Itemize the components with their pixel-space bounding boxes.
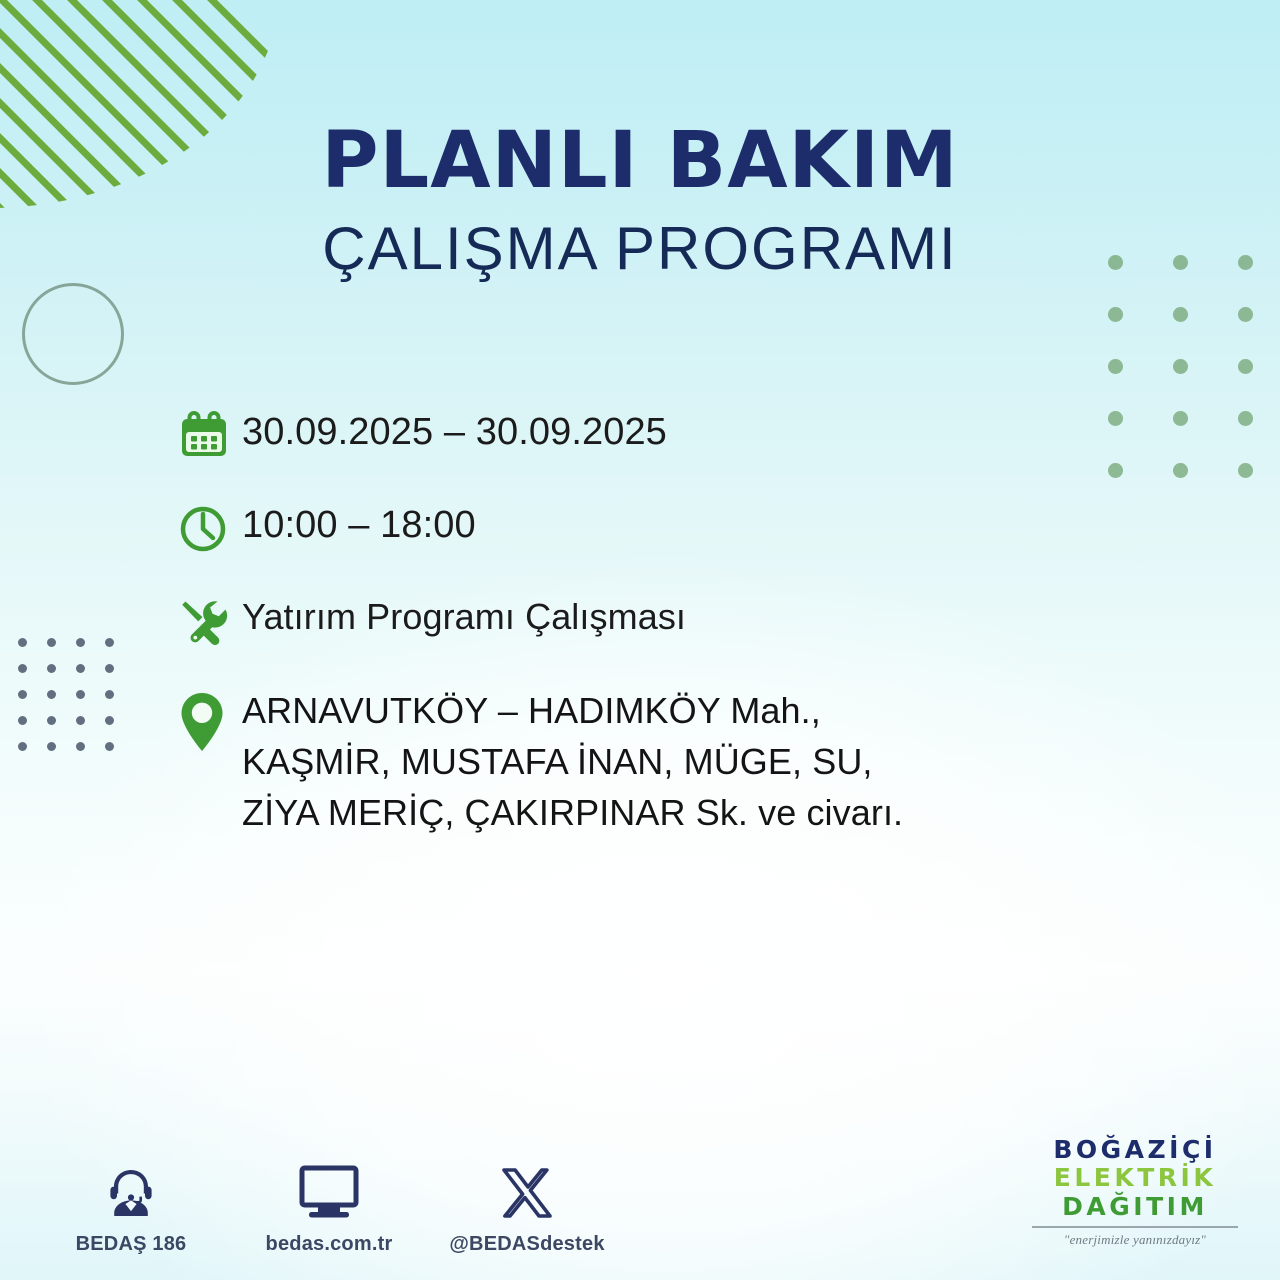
address-text: ARNAVUTKÖY – HADIMKÖY Mah., KAŞMİR, MUST…	[242, 685, 903, 838]
poster-header: PLANLI BAKIM ÇALIŞMA PROGRAMI	[0, 122, 1280, 282]
poster-canvas: PLANLI BAKIM ÇALIŞMA PROGRAMI	[0, 0, 1280, 1280]
page-title: PLANLI BAKIM	[0, 122, 1280, 202]
logo-divider	[1032, 1226, 1238, 1228]
headset-support-icon	[101, 1160, 161, 1222]
footer-contacts: BEDAŞ 186 bedas.com.tr @BEDASdestek	[58, 1160, 600, 1256]
contact-website[interactable]: bedas.com.tr	[256, 1160, 402, 1256]
address-line: ARNAVUTKÖY – HADIMKÖY Mah.,	[242, 685, 903, 736]
logo-tagline: "enerjimizle yanınızdayız"	[1026, 1232, 1244, 1248]
clock-icon	[176, 499, 242, 563]
circle-outline-decoration	[22, 283, 124, 385]
work-type-text: Yatırım Programı Çalışması	[242, 592, 686, 638]
info-row-time: 10:00 – 18:00	[176, 499, 1076, 563]
time-range-text: 10:00 – 18:00	[242, 499, 476, 548]
contact-label: bedas.com.tr	[266, 1233, 393, 1256]
date-range-text: 30.09.2025 – 30.09.2025	[242, 406, 667, 455]
logo-line-bogazici: BOĞAZİÇİ	[1026, 1136, 1244, 1165]
page-subtitle: ÇALIŞMA PROGRAMI	[0, 216, 1280, 282]
calendar-icon	[176, 406, 242, 470]
x-twitter-icon	[498, 1160, 556, 1222]
logo-line-dagitim: DAĞITIM	[1026, 1193, 1244, 1222]
dot-grid-right-decoration	[1108, 255, 1280, 515]
contact-call-center[interactable]: BEDAŞ 186	[58, 1160, 204, 1256]
monitor-website-icon	[297, 1160, 361, 1222]
contact-x-social[interactable]: @BEDASdestek	[454, 1160, 600, 1256]
info-row-address: ARNAVUTKÖY – HADIMKÖY Mah., KAŞMİR, MUST…	[176, 685, 1076, 838]
location-pin-icon	[176, 685, 242, 753]
bedas-logo: BOĞAZİÇİ ELEKTRİK DAĞITIM "enerjimizle y…	[1026, 1136, 1244, 1249]
outage-info-block: 30.09.2025 – 30.09.2025 10:00 – 18:00	[176, 406, 1076, 838]
info-row-date: 30.09.2025 – 30.09.2025	[176, 406, 1076, 470]
contact-label: BEDAŞ 186	[76, 1233, 187, 1256]
logo-line-elektrik: ELEKTRİK	[1026, 1164, 1244, 1193]
dot-grid-left-decoration	[18, 638, 134, 768]
info-row-work-type: Yatırım Programı Çalışması	[176, 592, 1076, 656]
address-line: KAŞMİR, MUSTAFA İNAN, MÜGE, SU,	[242, 736, 903, 787]
tools-icon	[176, 592, 242, 656]
address-line: ZİYA MERİÇ, ÇAKIRPINAR Sk. ve civarı.	[242, 787, 903, 838]
contact-label: @BEDASdestek	[449, 1233, 604, 1256]
